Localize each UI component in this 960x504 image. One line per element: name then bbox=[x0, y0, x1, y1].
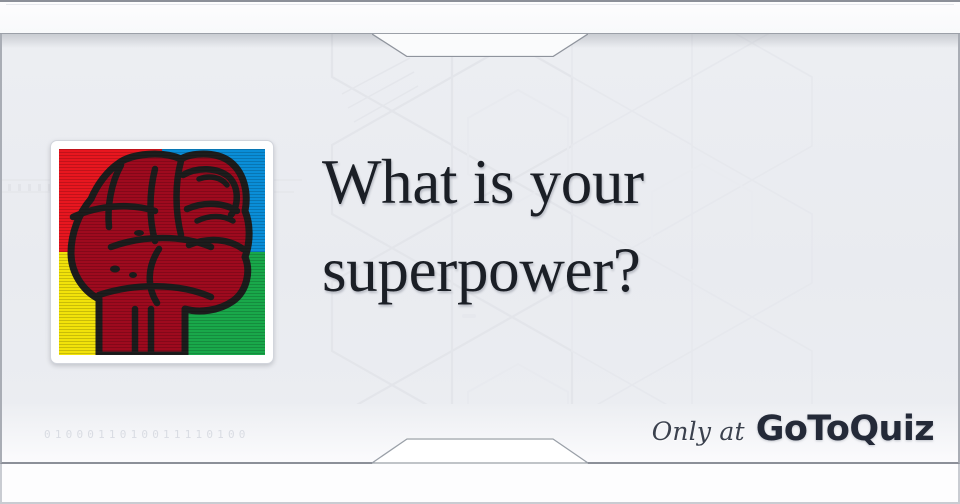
page-title: What is your superpower? bbox=[322, 138, 882, 314]
quiz-share-card: 0100011010011110100 bbox=[0, 0, 960, 504]
title-line-1: What is your bbox=[322, 138, 882, 226]
binary-decoration: 0100011010011110100 bbox=[44, 428, 250, 441]
bottom-notch-shape bbox=[372, 438, 588, 464]
quiz-thumbnail[interactable] bbox=[50, 140, 274, 364]
top-notch-shape bbox=[372, 33, 588, 57]
fist-illustration bbox=[59, 149, 265, 355]
top-bar-highlight bbox=[6, 4, 954, 5]
branding[interactable]: Only at GoToQuiz bbox=[652, 409, 934, 449]
only-at-label: Only at bbox=[652, 417, 745, 446]
footer-strip bbox=[0, 464, 960, 504]
gotoquiz-logo-text: GoToQuiz bbox=[756, 409, 934, 449]
top-bar bbox=[0, 0, 960, 34]
title-line-2: superpower? bbox=[322, 226, 882, 314]
